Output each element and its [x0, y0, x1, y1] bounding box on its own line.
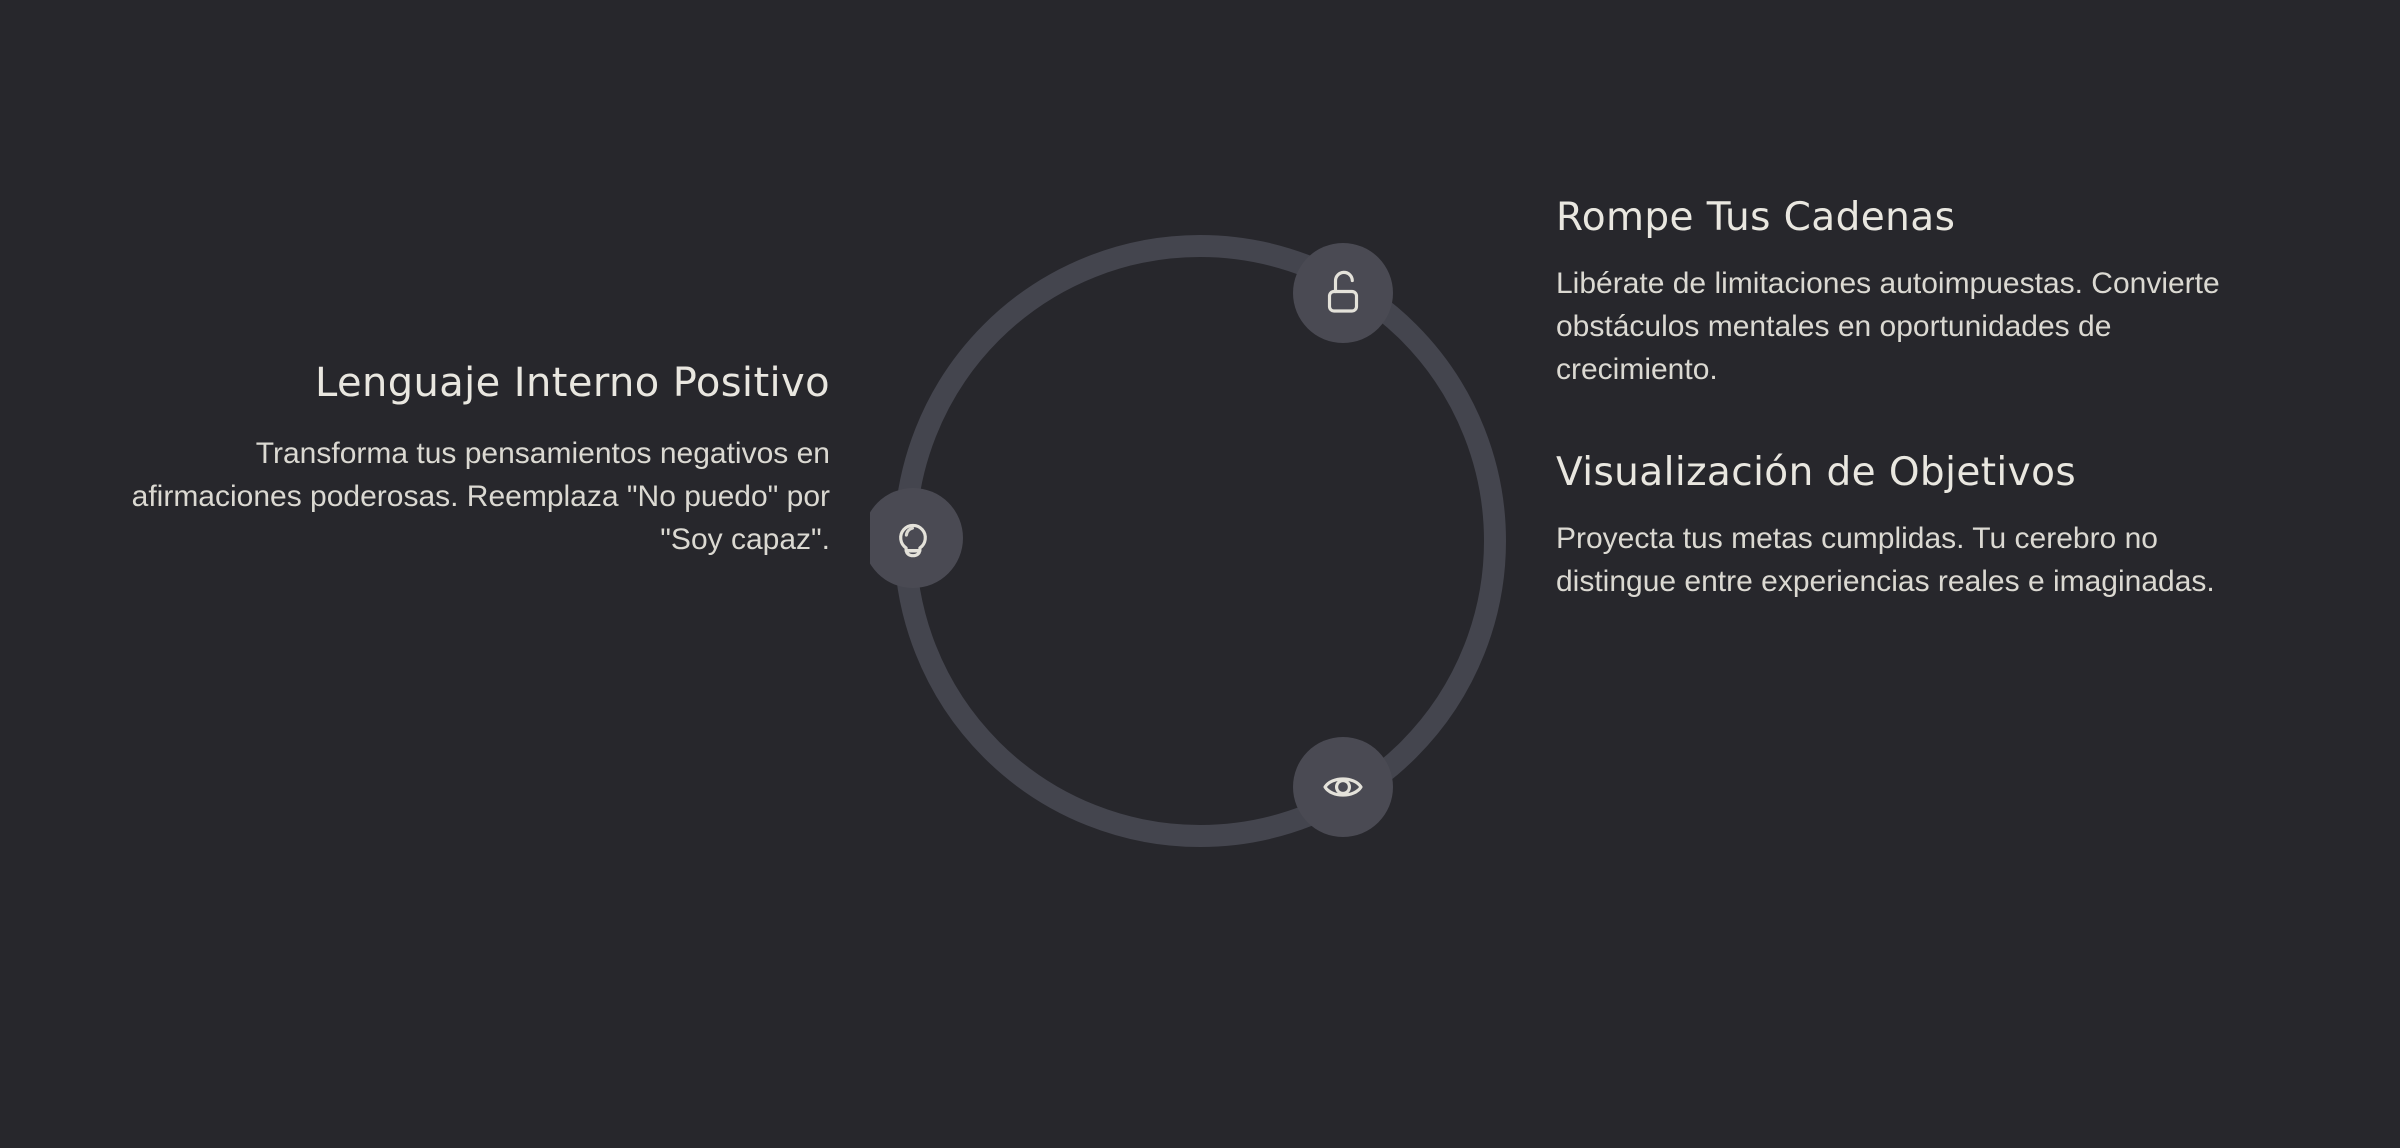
feature-block-break-chains: Rompe Tus Cadenas Libérate de limitacion… — [1556, 195, 2256, 392]
node-eye[interactable] — [1293, 737, 1393, 837]
feature-heading-self-talk: Lenguaje Interno Positivo — [130, 360, 830, 407]
node-lightbulb[interactable] — [870, 488, 963, 588]
circular-node-diagram — [870, 211, 1530, 871]
right-text-column: Rompe Tus Cadenas Libérate de limitacion… — [1556, 195, 2256, 603]
page-canvas: Lenguaje Interno Positivo Transforma tus… — [0, 0, 2400, 1148]
node-unlock[interactable] — [1293, 243, 1393, 343]
feature-body-break-chains: Libérate de limitaciones autoimpuestas. … — [1556, 263, 2256, 392]
connector-ring — [905, 246, 1495, 836]
feature-body-self-talk: Transforma tus pensamientos negativos en… — [130, 433, 830, 562]
feature-block-self-talk: Lenguaje Interno Positivo Transforma tus… — [130, 360, 830, 562]
feature-heading-break-chains: Rompe Tus Cadenas — [1556, 195, 2256, 241]
node-lightbulb-background — [870, 488, 963, 588]
left-text-column: Lenguaje Interno Positivo Transforma tus… — [130, 360, 830, 562]
node-eye-background — [1293, 737, 1393, 837]
feature-body-visualization: Proyecta tus metas cumplidas. Tu cerebro… — [1556, 518, 2256, 604]
feature-heading-visualization: Visualización de Objetivos — [1556, 450, 2256, 496]
feature-block-visualization: Visualización de Objetivos Proyecta tus … — [1556, 450, 2256, 604]
